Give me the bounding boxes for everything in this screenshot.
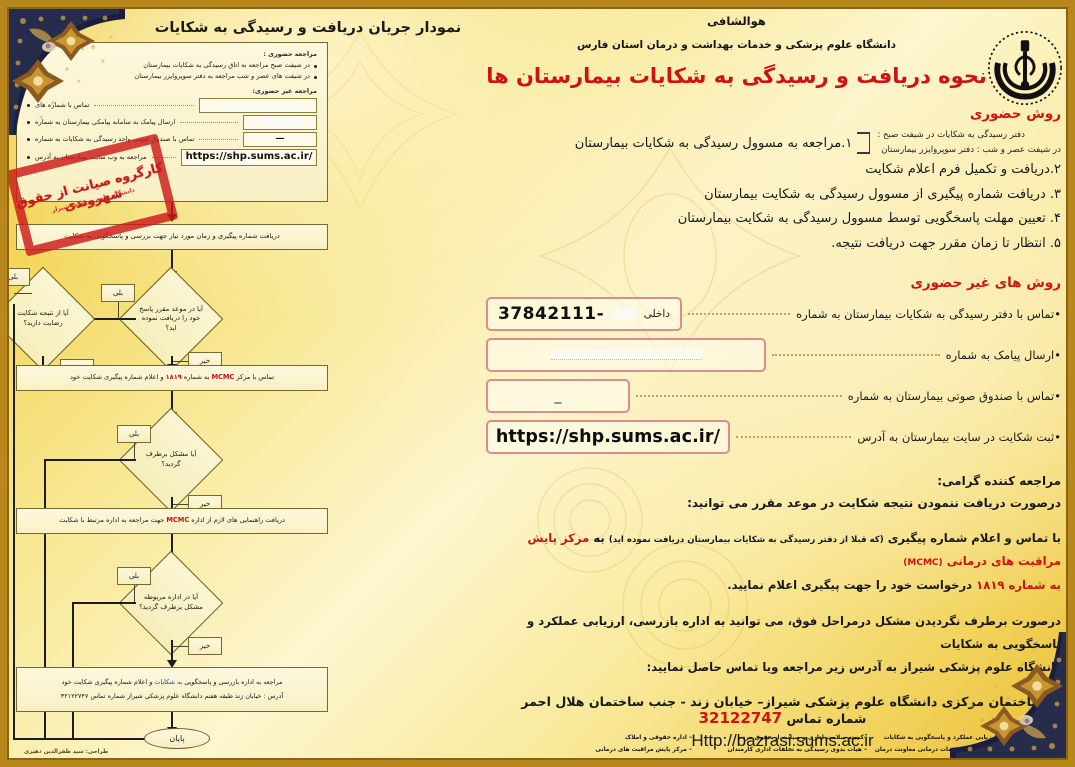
connector [118,302,119,319]
leader-dots [636,395,842,397]
connector [173,646,188,647]
notice-paragraph-1: با تماس و اعلام شماره پیگیری (که قبلا از… [486,527,1061,573]
shift-bracket-icon [857,130,870,156]
intake-remote-label-text: تماس با شماره های [35,101,89,111]
remote-row-website-label: •ثبت شکایت در سایت بیمارستان به آدرس [857,430,1061,444]
flowchart-step-tracking: دریافت شماره پیگیری و زمان مورد نیاز جهت… [16,224,328,250]
extension-label: داخلی [644,308,670,320]
connector [44,459,136,461]
guide-acronym: MCMC [166,516,189,524]
remote-website-field[interactable]: https://shp.sums.ac.ir/ [486,420,730,454]
notice-p2-b: درخواست خود را جهت پیگیری اعلام نمایید. [727,578,972,592]
bullet-dot-icon [27,156,30,159]
remote-row-voicemail: •تماس با صندوق صوتی بیمارستان به شماره _ [486,379,1061,413]
in-person-step-1: دفتر رسیدگی به شکایات در شیفت صبح : در ش… [486,128,1061,158]
in-person-step-2: ۲.دریافت و تکمیل فرم اعلام شکایت [486,158,1061,183]
footer-department-item: – اداره بازرسی، ارزیابی عملکرد و پاسخگوی… [875,735,1045,741]
leader-dots [688,313,790,315]
remote-row-sms: •ارسال پیامک به شماره [486,338,1061,372]
intake-remote-row: https://shp.sums.ac.ir/ مراجعه به وب سای… [27,149,317,166]
poster-canvas: نمودار جریان دریافت و رسیدگی به شکایات م… [0,0,1075,767]
section-heading-remote: روش های غیر حضوری [486,275,1061,291]
intake-remote-label: مراجعه غیر حضوری: [27,87,317,96]
in-person-step-4: ۴. تعیین مهلت پاسخگویی توسط مسوول رسیدگی… [486,207,1061,232]
remote-voicemail-value: _ [555,388,562,404]
section-heading-in-person: روش حضوری [486,106,1061,122]
notice-p1-parenthetical: (که قبلا از دفتر رسیدگی به شکایات بیمارس… [609,535,884,545]
connector [173,504,188,505]
remote-phone-value: 37842111- [498,304,604,324]
content-panel: هوالشافی دانشگاه علوم پزشکی و خدمات بهدا… [486,10,1061,751]
bullet-dot-icon [27,104,30,107]
flowchart-step-mcmc: تماس با مرکز MCMC به شماره ۱۸۱۹ و اعلام … [16,365,328,391]
final-address-text: آدرس : خیابان زند طبقه هفتم دانشگاه علوم… [90,692,283,700]
connector [14,293,32,294]
footer-department-item: –کمیته سلامت اداری و صیانت از حقوق مردم [700,735,867,741]
decision-4-no-label: خیر [188,637,222,655]
remote-row-phone-label: •تماس با دفتر رسیدگی به شکایات بیمارستان… [796,307,1061,321]
connector-arrow-icon [167,214,177,222]
remote-row-website: •ثبت شکایت در سایت بیمارستان به آدرس htt… [486,420,1061,454]
bullet-dot-icon [314,65,317,68]
bullet-dot-icon [27,138,30,141]
mcmc-acronym: MCMC [211,373,234,381]
notice-paragraph-4: دانشگاه علوم پزشکی شیراز به آدرس زیر مرا… [486,656,1061,679]
remote-phone-field[interactable]: داخلی 37842111- [486,297,682,331]
intake-bullet-text: در شیفت صبح مراجعه به اتاق رسیدگی به شکا… [143,61,310,71]
bullet-dot-icon [314,76,317,79]
notice-p2-a: به شماره [1009,578,1061,592]
guide-text-a: دریافت راهنمایی های لازم از اداره [191,516,285,524]
decision-1-text: آیا در موعد مقرر پاسخ خود را دریافت نمود… [135,283,207,355]
intake-phone-field [199,98,317,113]
decision-4-yes-label: بلی [117,567,151,585]
notice-intro: درصورت دریافت ننمودن نتیجه شکایت در موعد… [486,492,1061,514]
notice-mcmc-number: ۱۸۱۹ [976,578,1004,592]
intake-bullet: در شیفت های عصر و شب مراجعه به دفتر سوپر… [27,72,317,82]
connector [134,584,135,603]
poster-header: هوالشافی دانشگاه علوم پزشکی و خدمات بهدا… [486,14,1061,51]
notice-mcmc-acronym: (MCMC) [903,558,942,568]
remote-voicemail-field[interactable]: _ [486,379,630,413]
intake-in-person-label: مراجعه حضوری : [27,50,317,59]
bismillah-text: هوالشافی [486,14,987,28]
footer-department-list: – اداره بازرسی، ارزیابی عملکرد و پاسخگوی… [525,735,1045,753]
shift-morning-location: دفتر رسیدگی به شکایات [937,128,1025,143]
decision-3-yes-label: بلی [117,425,151,443]
decision-2-yes-label: بلی [0,268,30,286]
leader-dots [94,105,194,106]
mcmc-text-c: و اعلام شماره پیگیری شکایت خود [70,373,164,381]
connector [13,304,15,740]
final-text-c: و اعلام شماره پیگیری شکایت خود [62,678,153,686]
flowchart-end-terminator: پایان [144,728,210,749]
shift-evening-location: دفتر سوپروایزر بیمارستان [881,143,974,158]
leader-dots [736,436,851,438]
guide-text-b: جهت مراجعه به اداره مرتبط با شکایت [59,516,164,524]
notice-paragraph-2: به شماره ۱۸۱۹ درخواست خود را جهت پیگیری … [486,574,1061,597]
redacted-value [219,102,298,110]
intake-remote-label-text: تماس با صندوق صوتی واحد رسیدگی به شکایات… [35,135,194,145]
notice-block: مراجعه کننده گرامی: درصورت دریافت ننمودن… [486,470,1061,680]
final-text-b: به شکایات [154,678,182,686]
intake-remote-label-text: ارسال پیامک به سامانه پیامکی بیمارستان ب… [35,118,175,128]
mcmc-text-a: تماس با مرکز [236,373,274,381]
redacted-extension [612,307,636,320]
decision-1-yes-label: بلی [101,284,135,302]
mcmc-text-b: به شماره [184,373,209,381]
leader-dots [772,354,940,356]
intake-remote-row: — تماس با صندوق صوتی واحد رسیدگی به شکای… [27,132,317,147]
footer-department-item: – مرکز پایش مراقبت های درمانی [525,747,692,753]
footer-department-item: – اداره نظارت و ارزشیابی موسسات درمانی م… [875,747,1045,753]
remote-sms-field[interactable] [486,338,766,372]
notice-p1-a: با تماس و اعلام شماره پیگیری [888,531,1061,545]
end-label: پایان [169,734,184,743]
address-text: ساختمان مرکزی دانشگاه علوم پزشکی شیراز– … [521,694,1043,726]
intake-sms-field [243,115,317,130]
in-person-step-5: ۵. انتظار تا زمان مقرر جهت دریافت نتیجه. [486,232,1061,257]
address-phone: 32122747 [699,709,783,727]
intake-website-value: https://shp.sums.ac.ir/ [186,150,313,165]
intake-remote-row: تماس با شماره های [27,98,317,113]
flowchart-step-guidance: دریافت راهنمایی های لازم از اداره MCMC ج… [16,508,328,534]
intake-bullet: در شیفت صبح مراجعه به اتاق رسیدگی به شکا… [27,61,317,71]
connector [134,442,135,460]
connector [173,361,188,362]
mcmc-number: ۱۸۱۹ [166,373,182,381]
footer-department-item: – اداره حقوقی و املاک [525,735,692,741]
redacted-value [261,119,300,127]
final-text-a: مراجعه به اداره بازرسی و پاسخگویی [184,678,282,686]
flowchart-final-box: مراجعه به اداره بازرسی و پاسخگویی به شکا… [16,667,328,712]
remote-website-value: https://shp.sums.ac.ir/ [496,427,720,447]
notice-paragraph-3: درصورت برطرف نگردیدن مشکل درمراحل فوق، م… [486,610,1061,656]
intake-bullet-text: در شیفت های عصر و شب مراجعه به دفتر سوپر… [134,72,310,82]
university-name: دانشگاه علوم پزشکی و خدمات بهداشت و درما… [486,39,987,51]
intake-remote-row: ارسال پیامک به سامانه پیامکی بیمارستان ب… [27,115,317,130]
address-line: ساختمان مرکزی دانشگاه علوم پزشکی شیراز– … [504,694,1061,727]
remote-row-phone: •تماس با دفتر رسیدگی به شکایات بیمارستان… [486,297,1061,331]
notice-p1-b: به [593,531,604,545]
bullet-dot-icon [27,121,30,124]
remote-row-sms-label: •ارسال پیامک به شماره [946,348,1061,362]
shift-details: دفتر رسیدگی به شکایات در شیفت صبح : در ش… [877,128,1061,158]
flowchart-panel: نمودار جریان دریافت و رسیدگی به شکایات م… [8,14,490,759]
shift-morning-label: در شیفت صبح : [877,128,934,143]
flowchart-title: نمودار جریان دریافت و رسیدگی به شکایات [148,20,468,36]
intake-website-field[interactable]: https://shp.sums.ac.ir/ [181,149,317,166]
step-tracking-text: دریافت شماره پیگیری و زمان مورد نیاز جهت… [64,232,280,242]
ministry-of-health-emblem-icon [983,26,1067,110]
flowchart-intake-box: مراجعه حضوری : در شیفت صبح مراجعه به اتا… [16,42,328,202]
designer-credit: طراحی: سید ظفرالدین دهیری [24,749,108,755]
final-address-phone: ۳۲۱۲۲۷۴۷ [61,692,88,700]
intake-remote-label-text: مراجعه به وب سایت بیمارستان به آدرس [35,153,147,163]
connector [72,602,136,604]
footer-department-item: – هیات بدوی رسیدگی به تخلفات اداری کارمن… [700,747,867,753]
leader-dots [152,157,176,158]
remote-row-voicemail-label: •تماس با صندوق صوتی بیمارستان به شماره [848,389,1061,403]
leader-dots [180,122,238,123]
shift-evening-label: در شیفت عصر و شب : [977,143,1061,158]
notice-salutation: مراجعه کننده گرامی: [486,470,1061,492]
leader-dots [199,139,238,140]
intake-voicemail-field: — [243,132,317,147]
redacted-sms-value [551,349,701,360]
in-person-step-1-text: ۱.مراجعه به مسوول رسیدگی به شکایات بیمار… [575,136,853,151]
in-person-step-3: ۳. دریافت شماره پیگیری از مسوول رسیدگی ب… [486,183,1061,208]
page-title: نحوه دریافت و رسیدگی به شکایات بیمارستان… [486,64,1061,88]
intake-voicemail-value: — [276,133,285,146]
